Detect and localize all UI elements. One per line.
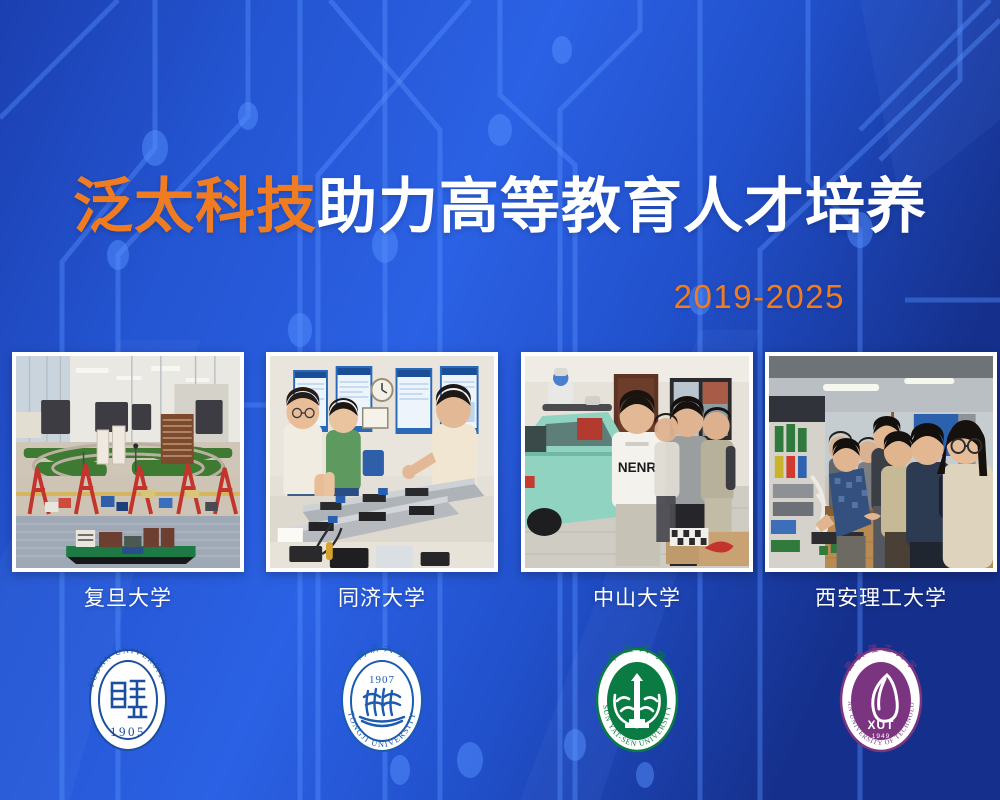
tongji-university-logo: 同 济 大 学 TONGJI UNIVERSITY 1907 [330,639,434,761]
photo-autonomous-vehicle-demo: NENR [525,356,749,568]
caption-tongji: 同济大学 [266,582,498,612]
caption-row: 复旦大学 同济大学 中山大学 西安理工大学 [0,582,1000,614]
svg-text:1949: 1949 [872,733,890,740]
logo-row: FUDAN UNIVERSITY 1905 [0,636,1000,764]
caption-xut: 西安理工大学 [765,582,997,612]
title-brand: 泛太科技 [73,173,317,240]
photo-gallery: NENR [0,352,1000,572]
svg-text:1905: 1905 [110,724,146,739]
logo-slot-fudan: FUDAN UNIVERSITY 1905 [12,636,244,764]
logo-slot-tongji: 同 济 大 学 TONGJI UNIVERSITY 1907 [266,636,498,764]
subtitle-year-range: 2019-2025 [674,278,845,316]
fudan-university-logo: FUDAN UNIVERSITY 1905 [76,639,180,761]
photo-smart-port-model [16,356,240,568]
poster-canvas: 泛太科技助力高等教育人才培养 2019-2025 [0,0,1000,800]
photo-workshop-equipment-visit [769,356,993,568]
photo-equipment-lab-session [270,356,494,568]
photo-card-fudan [12,352,244,572]
sun-yat-sen-university-logo: 中 山 大 学 SUN YAT-SEN UNIVERSITY [585,639,689,761]
svg-text:NENR: NENR [618,460,656,475]
title-block: 泛太科技助力高等教育人才培养 [0,175,1000,238]
page-title: 泛太科技助力高等教育人才培养 [0,175,1000,238]
svg-text:1907: 1907 [369,674,395,686]
photo-card-sysu: NENR [521,352,753,572]
photo-card-xut [765,352,997,572]
photo-card-tongji [266,352,498,572]
caption-fudan: 复旦大学 [12,582,244,612]
caption-sysu: 中山大学 [521,582,753,612]
title-tagline: 助力高等教育人才培养 [317,173,927,240]
logo-slot-xut: 西 安 理 工 大 学 XI'AN UNIVERSITY OF TECHNOLO… [765,636,997,764]
xian-university-of-technology-logo: 西 安 理 工 大 学 XI'AN UNIVERSITY OF TECHNOLO… [829,639,933,761]
svg-text:XUT: XUT [868,718,895,732]
logo-slot-sysu: 中 山 大 学 SUN YAT-SEN UNIVERSITY [521,636,753,764]
